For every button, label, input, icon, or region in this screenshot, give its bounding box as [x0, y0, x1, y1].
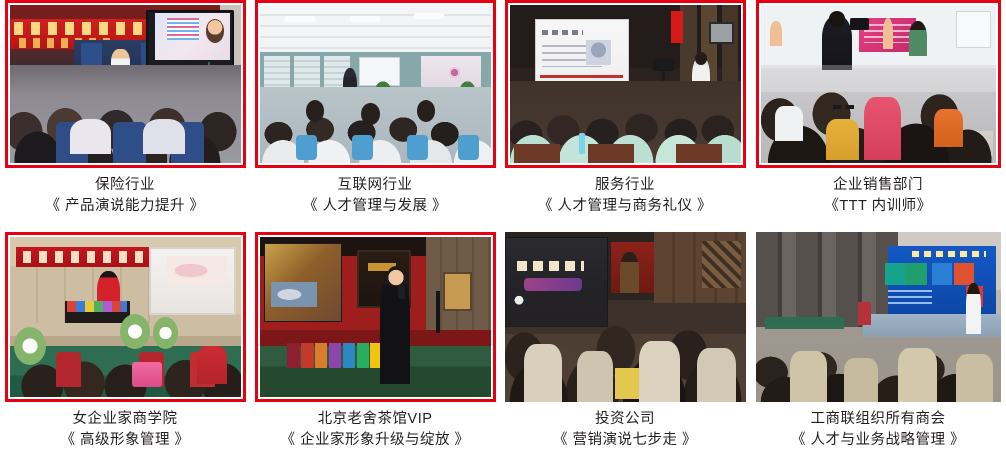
attendee-pink-shirt — [864, 97, 902, 160]
photo-enterprise-sales-department-workshop — [761, 5, 996, 163]
speaker-face — [387, 266, 405, 287]
blue-chair — [458, 135, 479, 160]
caption-line-2: 《 高级形象管理 》 — [0, 430, 250, 451]
attendee-cream-shirt — [639, 341, 680, 402]
wall-panel — [443, 272, 472, 311]
raised-hand — [883, 18, 894, 50]
caption-teahouse-vip: 北京老舍茶馆VIP 《 企业家形象升级与绽放 》 — [250, 402, 500, 451]
whiteboard — [956, 11, 991, 48]
photo-service-industry-auditorium — [510, 5, 741, 163]
blue-chair — [296, 135, 317, 160]
gallery-row-2: 女企业家商学院 《 高级形象管理 》 — [0, 232, 1006, 463]
attendee-shirt — [143, 119, 185, 154]
fabric-swatch — [315, 343, 327, 369]
photo-frame-internet — [255, 0, 496, 168]
caption-women-business-school: 女企业家商学院 《 高级形象管理 》 — [0, 402, 250, 451]
photo-frame-federation-conference — [756, 232, 1001, 402]
ceiling-tiles — [260, 5, 491, 52]
handheld-microphone — [398, 285, 405, 299]
caption-line-2: 《 人才管理与发展 》 — [250, 196, 500, 217]
slide-accent-bar — [540, 75, 623, 79]
attendee-cream-shirt — [577, 351, 613, 402]
led-screen-tile — [885, 263, 905, 285]
photo-beijing-laoshe-teahouse-vip — [260, 237, 491, 397]
led-screen-headline — [912, 251, 986, 258]
photo-frame-sales-department — [756, 0, 1001, 168]
ceiling-light — [414, 13, 444, 19]
attendee-glasses — [833, 105, 854, 110]
caption-line-2: 《 营销演说七步走 》 — [500, 430, 750, 451]
blue-chair — [352, 135, 373, 160]
auditorium-desk — [588, 144, 634, 163]
attendee-khaki-shirt — [956, 354, 993, 402]
attendee-shirt — [70, 119, 112, 154]
attendee-khaki-shirt — [790, 351, 827, 402]
attendee-red-coat — [197, 346, 227, 384]
attendee-khaki-shirt — [898, 348, 937, 402]
gallery-cell-federation-conference[interactable]: 工商联组织所有商会 《 人才与业务战略管理 》 — [750, 232, 1006, 463]
slide-illustration — [167, 256, 227, 285]
caption-internet: 互联网行业 《 人才管理与发展 》 — [250, 168, 500, 217]
chinese-flag — [671, 11, 683, 43]
led-screen-tile — [932, 263, 952, 285]
caption-sales-department: 企业销售部门 《TTT 内训师》 — [750, 168, 1006, 217]
colorful-props — [67, 301, 127, 312]
led-screen-body-text — [888, 290, 932, 305]
pink-handbag — [132, 362, 162, 388]
slide-title-text — [517, 261, 584, 271]
gallery-cell-investment-company[interactable]: 投资公司 《 营销演说七步走 》 — [500, 232, 750, 463]
attendee-head — [306, 100, 324, 122]
gallery-cell-insurance[interactable]: 保险行业 《 产品演说能力提升 》 — [0, 0, 250, 232]
banner-text — [23, 251, 143, 262]
auditorium-desk — [514, 144, 560, 163]
attendee-khaki-shirt — [844, 358, 878, 402]
red-podium — [858, 302, 870, 326]
photo-investment-company-seminar — [505, 232, 746, 402]
attendee-white-shirt — [775, 106, 803, 141]
gallery-cell-teahouse-vip[interactable]: 北京老舍茶馆VIP 《 企业家形象升级与绽放 》 — [250, 232, 500, 463]
photo-frame-investment-company — [505, 232, 746, 402]
audience-crowd — [260, 87, 491, 163]
gallery-row-1: 保险行业 《 产品演说能力提升 》 — [0, 0, 1006, 232]
attendee-yellow-shirt — [615, 368, 639, 399]
caption-line-2: 《 产品演说能力提升 》 — [0, 196, 250, 217]
caption-line-2: 《 人才与业务战略管理 》 — [750, 430, 1006, 451]
raised-hand — [770, 21, 782, 46]
caption-line-1: 保险行业 — [0, 175, 250, 196]
trainer-figure — [909, 21, 928, 56]
fabric-swatch — [343, 343, 355, 369]
fabric-swatch — [329, 343, 341, 369]
side-monitor — [709, 22, 734, 43]
attendee-head — [361, 103, 379, 125]
presenter-figure — [620, 252, 639, 293]
photo-frame-teahouse-vip — [255, 232, 496, 402]
photo-frame-service — [505, 0, 746, 168]
caption-federation-conference: 工商联组织所有商会 《 人才与业务战略管理 》 — [750, 402, 1006, 451]
projection-slide-graphic — [449, 67, 461, 78]
cameraman-head — [829, 11, 845, 27]
gallery-cell-service[interactable]: 服务行业 《 人才管理与商务礼仪 》 — [500, 0, 750, 232]
fabric-swatch — [287, 343, 299, 369]
tv-screen-person — [206, 19, 224, 43]
red-chair — [56, 352, 81, 387]
slide-illustration — [271, 282, 317, 308]
training-photo-gallery: 保险行业 《 产品演说能力提升 》 — [0, 0, 1006, 463]
caption-investment-company: 投资公司 《 营销演说七步走 》 — [500, 402, 750, 451]
gallery-cell-sales-department[interactable]: 企业销售部门 《TTT 内训师》 — [750, 0, 1006, 232]
blue-chair — [407, 135, 428, 160]
caption-line-2: 《TTT 内训师》 — [750, 196, 1006, 217]
video-camera — [850, 18, 869, 31]
gallery-cell-women-business-school[interactable]: 女企业家商学院 《 高级形象管理 》 — [0, 232, 250, 463]
green-railing — [421, 347, 486, 355]
caption-line-1: 服务行业 — [500, 175, 750, 196]
attendee-yellow-shirt — [826, 119, 859, 160]
led-screen-tile — [954, 263, 974, 285]
fabric-swatch — [357, 343, 369, 369]
photo-insurance-industry-training-classroom — [10, 5, 241, 163]
photo-internet-industry-office-classroom — [260, 5, 491, 163]
caption-line-1: 工商联组织所有商会 — [750, 409, 1006, 430]
caption-line-2: 《 企业家形象升级与绽放 》 — [250, 430, 500, 451]
water-bottle — [579, 133, 585, 154]
microphone-stand — [436, 291, 439, 333]
photo-frame-women-business-school — [5, 232, 246, 402]
caption-service: 服务行业 《 人才管理与商务礼仪 》 — [500, 168, 750, 217]
lily-flowers — [153, 317, 178, 349]
caption-line-1: 北京老舍茶馆VIP — [250, 409, 500, 430]
gallery-cell-internet[interactable]: 互联网行业 《 人才管理与发展 》 — [250, 0, 500, 232]
tv-screen-chart — [167, 18, 199, 40]
photo-federation-of-industry-commerce-conference — [756, 232, 1001, 402]
attendee-orange-shirt — [934, 109, 962, 147]
slide-heading — [542, 30, 584, 35]
window-blind — [294, 56, 319, 88]
fabric-swatch — [301, 343, 313, 369]
caption-line-1: 女企业家商学院 — [0, 409, 250, 430]
ceiling-light — [350, 16, 380, 22]
photo-women-entrepreneurs-business-school — [10, 237, 241, 397]
chair-back — [113, 122, 145, 163]
attendee-head — [417, 100, 435, 122]
caption-line-1: 互联网行业 — [250, 175, 500, 196]
ceiling-light — [285, 16, 315, 22]
caption-line-2: 《 人才管理与商务礼仪 》 — [500, 196, 750, 217]
slide-illustration — [586, 40, 611, 65]
lattice-screen — [702, 241, 741, 289]
attendee-cream-shirt — [524, 344, 563, 402]
window-blind — [264, 56, 289, 88]
attendee-cream-shirt — [697, 348, 736, 402]
led-screen-tile — [905, 263, 927, 285]
auditorium-desk — [676, 144, 722, 163]
caption-line-1: 投资公司 — [500, 409, 750, 430]
caption-insurance: 保险行业 《 产品演说能力提升 》 — [0, 168, 250, 217]
staff-member-head — [695, 52, 707, 65]
photo-frame-insurance — [5, 0, 246, 168]
caption-line-1: 企业销售部门 — [750, 175, 1006, 196]
